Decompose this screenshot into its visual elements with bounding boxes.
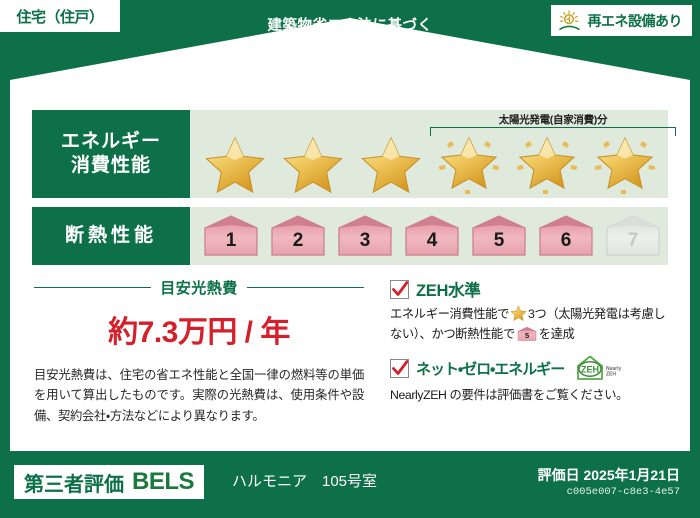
house-badge-icon: 5 bbox=[470, 214, 528, 258]
claim-body-part1: エネルギー消費性能で bbox=[390, 307, 509, 321]
label-title: 省エネ性能ラベル bbox=[0, 36, 700, 72]
energy-row-label: エネルギー 消費性能 bbox=[32, 110, 190, 198]
zeh-claims-block: ZEH水準 エネルギー消費性能で3つ（太陽光発電は考慮しない）、かつ断熱性能で5… bbox=[390, 277, 672, 416]
svg-text:ZEH: ZEH bbox=[581, 365, 599, 375]
star-3 bbox=[352, 134, 430, 194]
energy-label-line2: 消費性能 bbox=[71, 154, 151, 178]
svg-text:5: 5 bbox=[493, 230, 504, 251]
utility-cost-title: 目安光熱費 bbox=[34, 277, 364, 298]
svg-text:6: 6 bbox=[560, 230, 571, 251]
insulation-row-body: 1 2 3 bbox=[190, 207, 668, 265]
inline-star-icon bbox=[510, 305, 527, 321]
insulation-level-3: 3 bbox=[332, 214, 397, 258]
energy-performance-label: 住宅（住戸） 再エネ設備あり 建築物省エネ法に基づく 省エネ性能ラベル bbox=[0, 0, 700, 518]
energy-star-rating bbox=[190, 132, 668, 194]
insulation-level-2: 2 bbox=[265, 214, 330, 258]
star-icon bbox=[282, 134, 344, 194]
label-subtitle: 建築物省エネ法に基づく bbox=[0, 14, 700, 35]
building-name: ハルモニア 105号室 bbox=[232, 470, 377, 491]
star-sparkle-icon bbox=[590, 132, 660, 194]
insulation-performance-row: 断熱性能 bbox=[32, 207, 668, 265]
star-2 bbox=[274, 134, 352, 194]
insulation-level-7: 7 bbox=[600, 214, 665, 258]
zeh-nearly-logo-icon: ZEH Nearly ZEH bbox=[575, 354, 623, 382]
label-title-block: 建築物省エネ法に基づく 省エネ性能ラベル bbox=[0, 14, 700, 72]
star-5-solar bbox=[508, 132, 586, 194]
star-icon bbox=[360, 134, 422, 194]
utility-cost-block: 目安光熱費 約7.3万円 / 年 目安光熱費は、住宅の省エネ性能と全国一律の燃料… bbox=[34, 277, 364, 426]
check-icon bbox=[392, 281, 408, 298]
claim-zeh-standard-title: ZEH水準 bbox=[416, 277, 481, 301]
star-6-solar bbox=[586, 132, 664, 194]
house-badge-icon-inactive: 7 bbox=[604, 214, 662, 258]
claim-zeh-standard: ZEH水準 エネルギー消費性能で3つ（太陽光発電は考慮しない）、かつ断熱性能で5… bbox=[390, 277, 672, 344]
svg-text:4: 4 bbox=[426, 230, 437, 251]
svg-text:7: 7 bbox=[627, 230, 638, 251]
insulation-level-6: 6 bbox=[533, 214, 598, 258]
bels-certification-box: 第三者評価 BELS bbox=[14, 465, 204, 499]
insulation-row-label: 断熱性能 bbox=[32, 207, 190, 265]
svg-text:2: 2 bbox=[292, 230, 303, 251]
solar-annotation-label: 太陽光発電(自家消費)分 bbox=[428, 112, 678, 127]
svg-text:5: 5 bbox=[525, 330, 529, 339]
label-footer: 第三者評価 BELS ハルモニア 105号室 評価日 2025年1月21日 c0… bbox=[0, 456, 700, 518]
house-badge-icon: 6 bbox=[537, 214, 595, 258]
bels-en-label: BELS bbox=[132, 468, 194, 496]
bels-jp-label: 第三者評価 bbox=[24, 468, 124, 497]
svg-text:3: 3 bbox=[359, 230, 370, 251]
star-4-solar bbox=[430, 132, 508, 194]
star-sparkle-icon bbox=[512, 132, 582, 194]
claim-zeh-standard-body: エネルギー消費性能で3つ（太陽光発電は考慮しない）、かつ断熱性能で5を達成 bbox=[390, 305, 672, 344]
house-badge-icon: 2 bbox=[269, 214, 327, 258]
energy-label-line1: エネルギー bbox=[61, 130, 161, 154]
utility-cost-title-text: 目安光熱費 bbox=[160, 277, 238, 298]
claim-net-zero-energy: ネット・ゼロ・エネルギー ZEH Nearly ZEH NearlyZEH の要… bbox=[390, 354, 672, 406]
house-badge-icon: 4 bbox=[403, 214, 461, 258]
claim-net-zero-head: ネット・ゼロ・エネルギー ZEH Nearly ZEH bbox=[390, 354, 672, 382]
utility-cost-value: 約7.3万円 / 年 bbox=[34, 307, 364, 351]
house-badge-icon: 1 bbox=[202, 214, 260, 258]
inline-house-icon: 5 bbox=[517, 326, 537, 342]
checkbox-net-zero-energy[interactable] bbox=[390, 359, 409, 378]
evaluation-date: 評価日 2025年1月21日 bbox=[538, 465, 680, 485]
checkbox-zeh-standard[interactable] bbox=[390, 280, 409, 299]
claim-zeh-standard-head: ZEH水準 bbox=[390, 277, 672, 301]
svg-text:1: 1 bbox=[225, 230, 236, 251]
insulation-level-scale: 1 2 3 bbox=[190, 207, 668, 265]
insulation-level-4: 4 bbox=[399, 214, 464, 258]
claim-net-zero-title: ネット・ゼロ・エネルギー bbox=[416, 358, 564, 379]
energy-performance-row: エネルギー 消費性能 太陽光発電(自家消費)分 bbox=[32, 110, 668, 198]
house-badge-icon: 3 bbox=[336, 214, 394, 258]
evaluation-id: c005e007-c8e3-4e57 bbox=[567, 486, 680, 498]
star-icon bbox=[204, 134, 266, 194]
check-icon bbox=[392, 360, 408, 377]
star-sparkle-icon bbox=[434, 132, 504, 194]
svg-text:ZEH: ZEH bbox=[606, 372, 616, 378]
insulation-level-1: 1 bbox=[198, 214, 263, 258]
main-card: エネルギー 消費性能 太陽光発電(自家消費)分 bbox=[10, 95, 690, 451]
energy-row-body: 太陽光発電(自家消費)分 bbox=[190, 110, 668, 198]
star-1 bbox=[196, 134, 274, 194]
utility-cost-note: 目安光熱費は、住宅の省エネ性能と全国一律の燃料等の単価を用いて算出したものです。… bbox=[34, 365, 364, 426]
claim-body-part3: を達成 bbox=[539, 327, 575, 341]
claim-net-zero-body: NearlyZEH の要件は評価書をご覧ください。 bbox=[390, 386, 672, 406]
insulation-level-5: 5 bbox=[466, 214, 531, 258]
